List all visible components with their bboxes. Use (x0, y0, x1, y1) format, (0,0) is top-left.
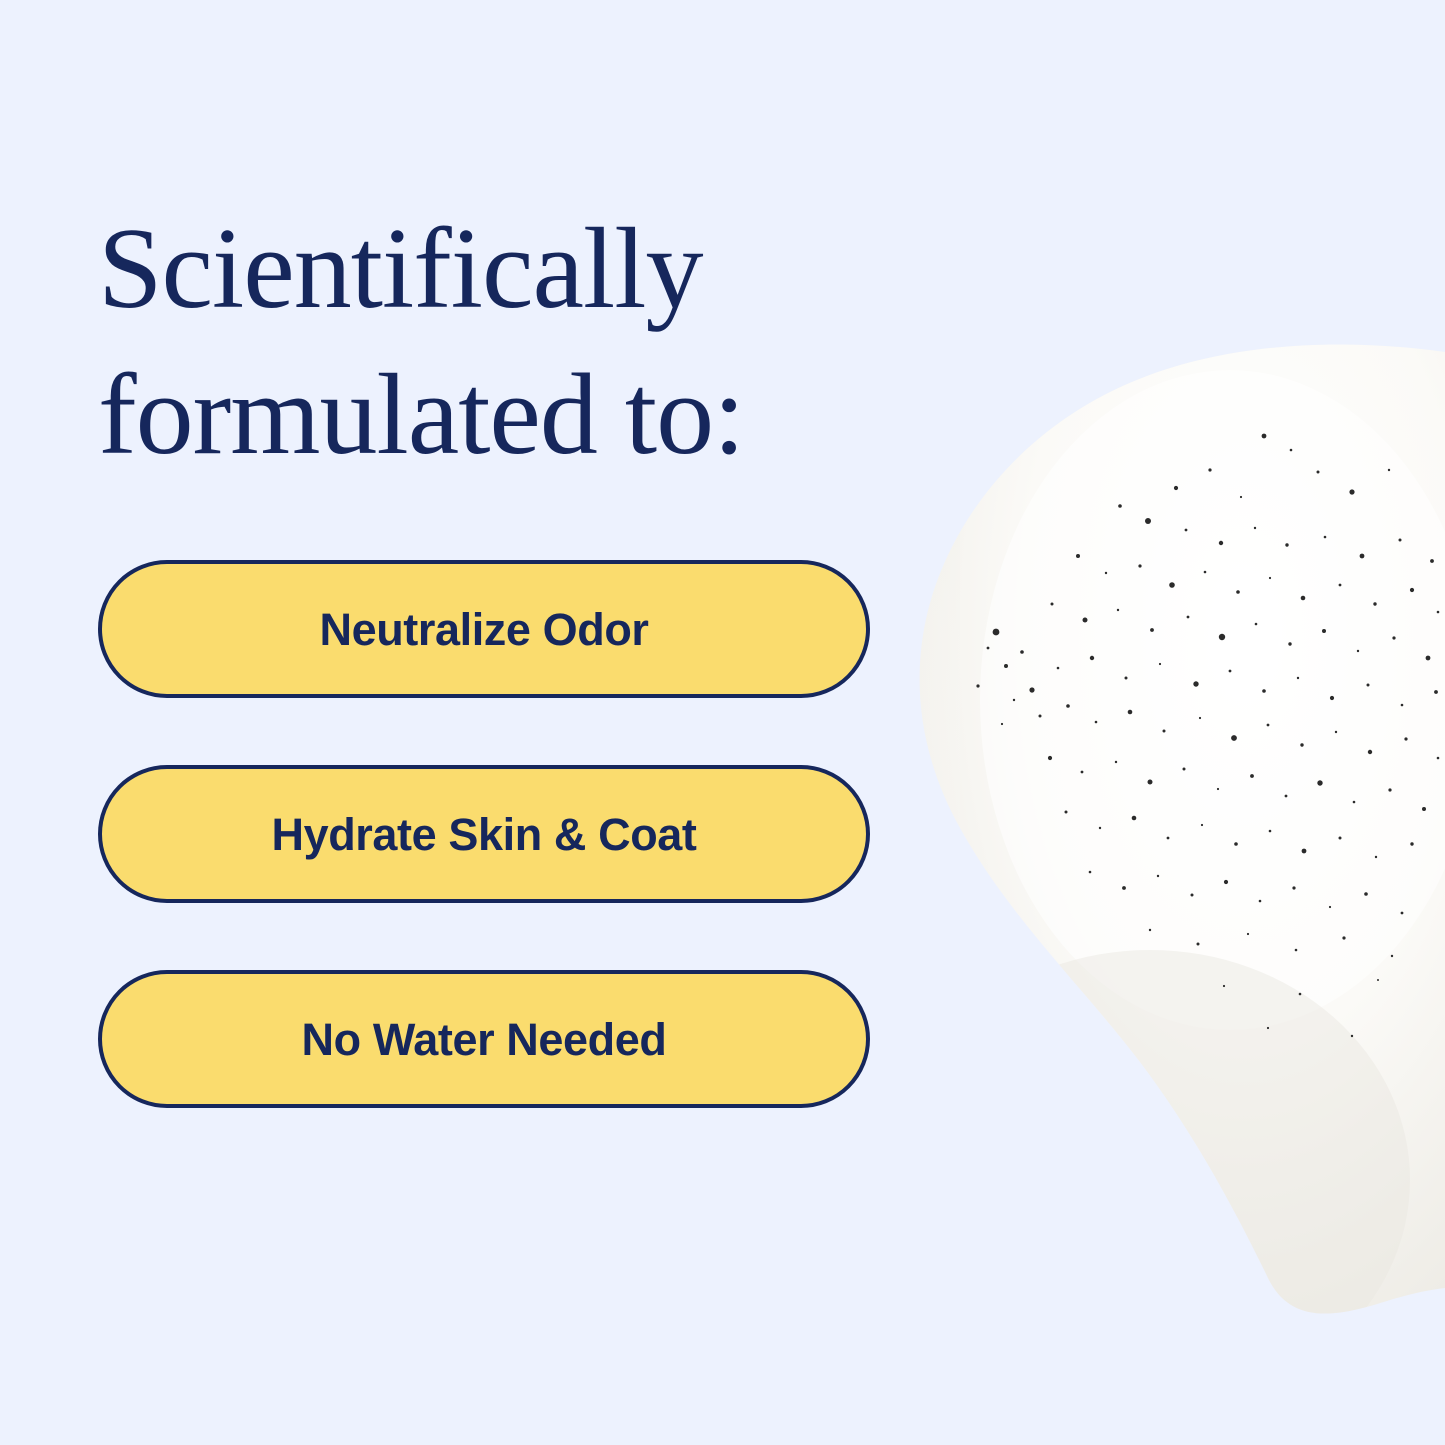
benefit-pill-no-water-needed[interactable]: No Water Needed (98, 970, 870, 1108)
headline-line-2: formulated to: (98, 342, 958, 488)
foam-blob-shape (920, 345, 1445, 1314)
benefit-list: Neutralize Odor Hydrate Skin & Coat No W… (98, 560, 870, 1108)
benefit-pill-label: Neutralize Odor (319, 607, 648, 652)
headline-line-1: Scientifically (98, 196, 958, 342)
page-title: Scientifically formulated to: (98, 196, 958, 488)
promo-canvas: Scientifically formulated to: Neutralize… (0, 0, 1445, 1445)
foam-lower-shade (890, 950, 1410, 1410)
foam-rim-shadow (920, 300, 1445, 828)
benefit-pill-neutralize-odor[interactable]: Neutralize Odor (98, 560, 870, 698)
benefit-pill-label: Hydrate Skin & Coat (272, 812, 697, 857)
foam-highlight (980, 370, 1445, 1030)
benefit-pill-label: No Water Needed (302, 1017, 667, 1062)
foam-speckles (976, 434, 1439, 1038)
benefit-pill-hydrate-skin-coat[interactable]: Hydrate Skin & Coat (98, 765, 870, 903)
